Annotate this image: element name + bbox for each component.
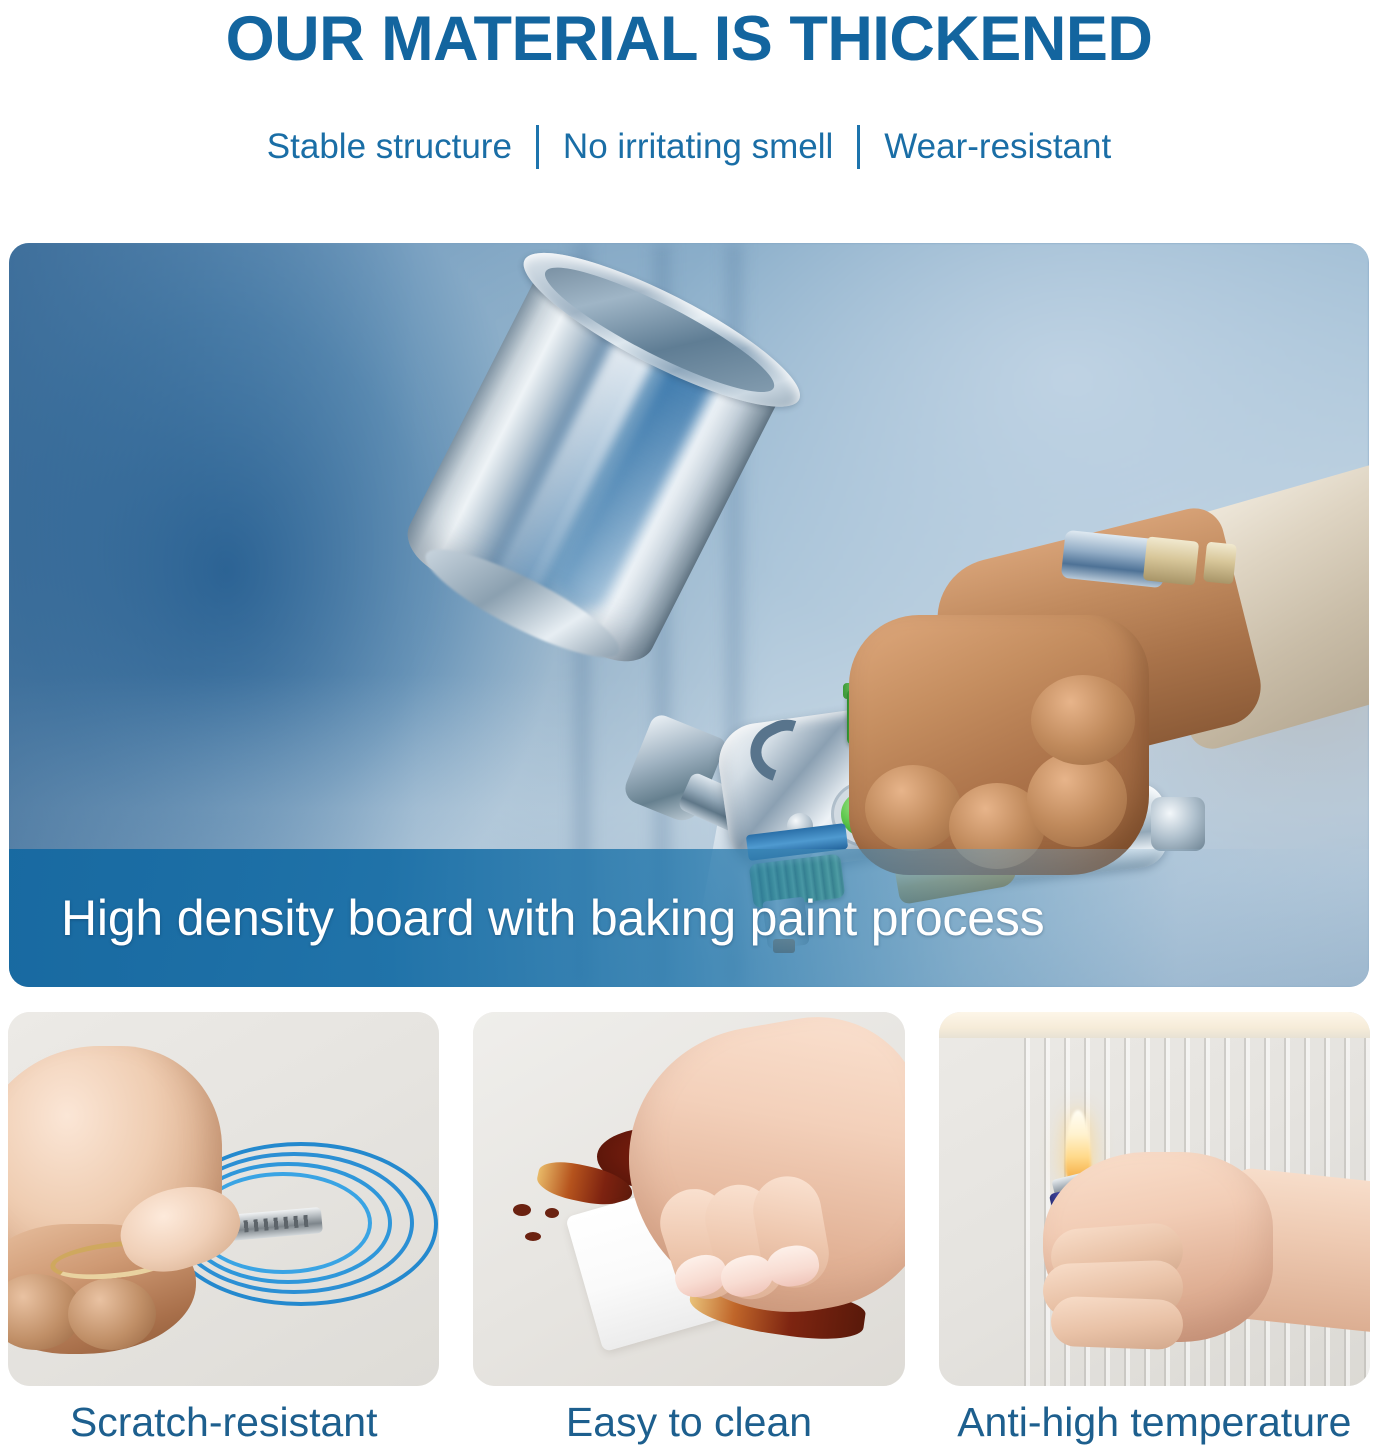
panel-top-edge	[939, 1012, 1370, 1038]
feature-card-easy-to-clean	[473, 1012, 904, 1386]
hero-caption-text: High density board with baking paint pro…	[9, 889, 1044, 947]
feature-label-scratch-resistant: Scratch-resistant	[8, 1394, 439, 1450]
product-feature-page: OUR MATERIAL IS THICKENED Stable structu…	[0, 0, 1378, 1451]
knuckle-4	[1031, 675, 1135, 765]
feature-label-row: Scratch-resistant Easy to clean Anti-hig…	[8, 1394, 1370, 1450]
feature-label-easy-to-clean: Easy to clean	[473, 1394, 904, 1450]
feature-subheading-row: Stable structure No irritating smell Wea…	[0, 125, 1378, 169]
feature-label-anti-high-temperature: Anti-high temperature	[939, 1394, 1370, 1450]
hero-caption-bar: High density board with baking paint pro…	[9, 849, 1369, 987]
hose-fitting-2	[1203, 542, 1237, 585]
knuckle-1	[865, 765, 961, 851]
feature-card-row	[8, 1012, 1370, 1386]
hose-fitting-1	[1143, 536, 1199, 585]
hero-image: High density board with baking paint pro…	[9, 243, 1369, 987]
gripping-hand-icon	[849, 615, 1149, 875]
feature-card-anti-high-temperature	[939, 1012, 1370, 1386]
feature-card-scratch-resistant	[8, 1012, 439, 1386]
page-headline: OUR MATERIAL IS THICKENED	[0, 2, 1378, 76]
subhead-item-2: No irritating smell	[539, 125, 857, 169]
gun-rear-fitting	[1151, 797, 1205, 851]
lighter-finger-3	[1050, 1296, 1184, 1351]
subhead-item-3: Wear-resistant	[860, 125, 1135, 169]
knuckle-3	[1027, 751, 1127, 847]
finger-2	[68, 1278, 156, 1350]
subhead-item-1: Stable structure	[243, 125, 536, 169]
